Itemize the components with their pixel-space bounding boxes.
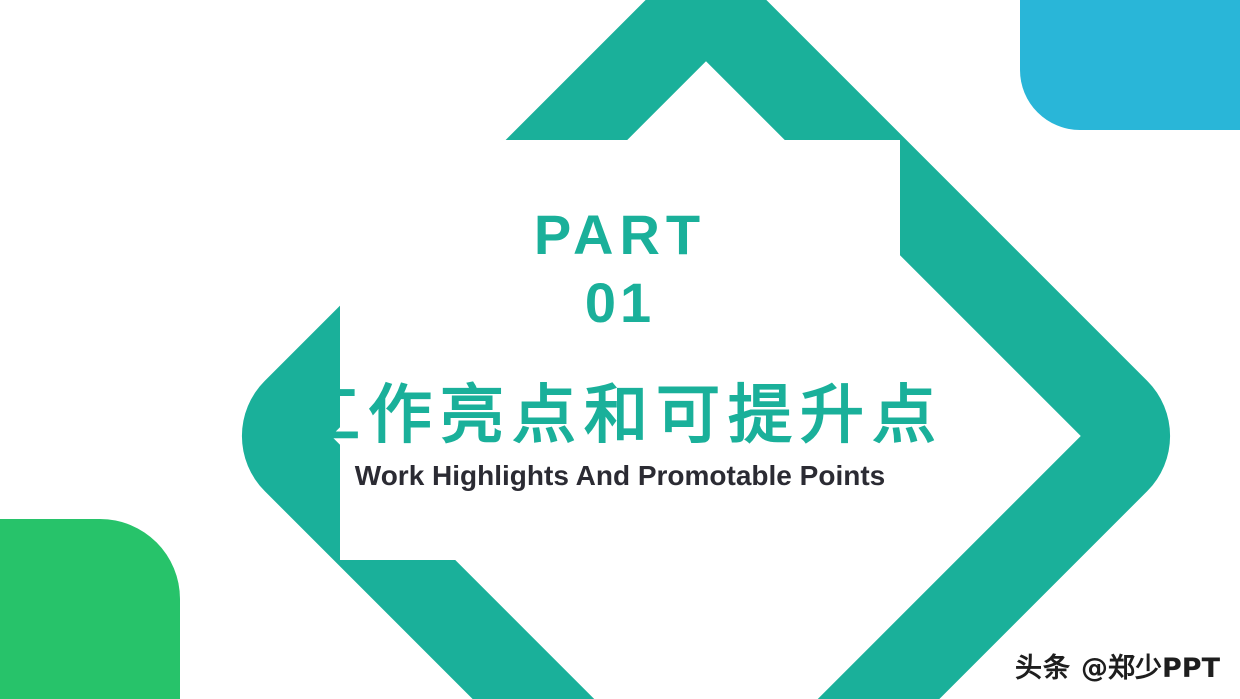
slide-content-plate: PART 01 工作亮点和可提升点 Work Highlights And Pr… — [340, 140, 900, 560]
part-number: 01 — [585, 271, 655, 335]
slide-title-english: Work Highlights And Promotable Points — [355, 459, 885, 493]
decoration-green-corner — [0, 519, 180, 699]
watermark-logo: 头条 — [1015, 646, 1071, 685]
part-label: PART — [534, 206, 706, 265]
watermark-text: @郑少PPT — [1081, 646, 1220, 685]
slide-title-chinese: 工作亮点和可提升点 — [296, 381, 944, 451]
watermark: 头条 @郑少PPT — [1015, 646, 1220, 685]
slide-canvas: PART 01 工作亮点和可提升点 Work Highlights And Pr… — [0, 0, 1240, 699]
